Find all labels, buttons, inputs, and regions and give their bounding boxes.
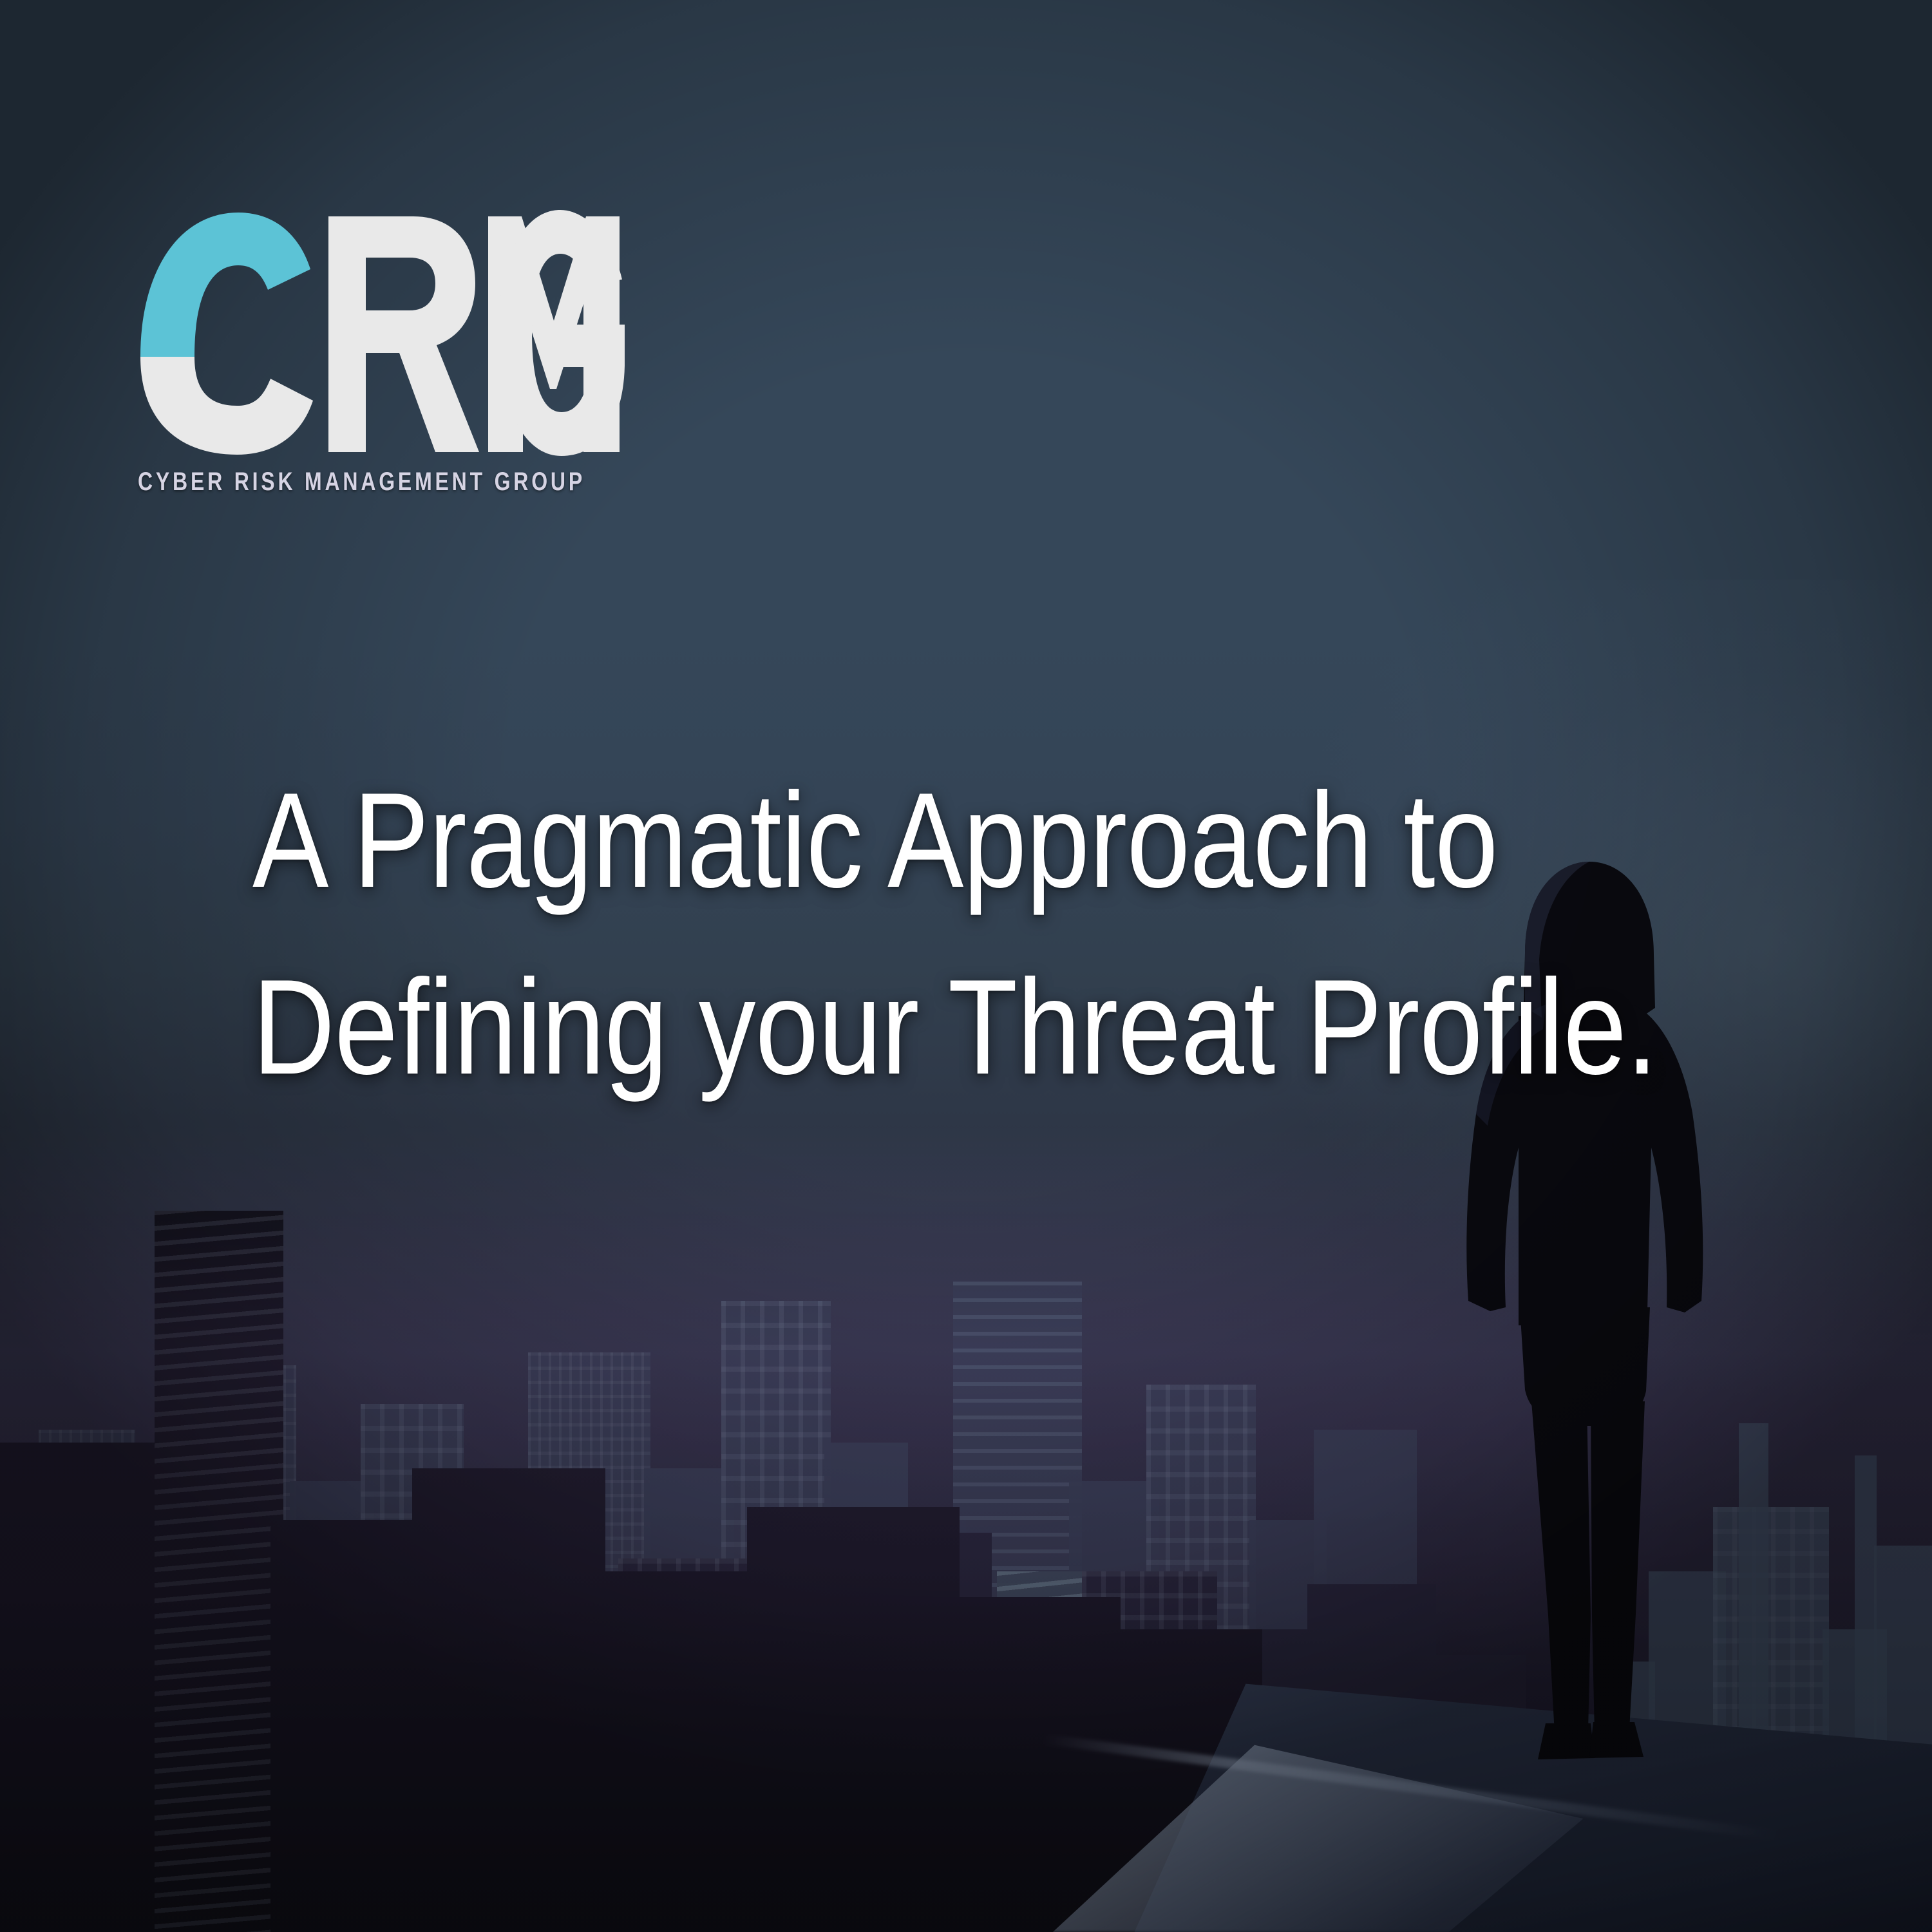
logo-letter-r	[328, 216, 479, 452]
headline: A Pragmatic Approach to Defining your Th…	[252, 747, 1605, 1121]
headline-line-2: Defining your Threat Profile.	[252, 934, 1396, 1121]
logo-letter-c	[140, 357, 313, 455]
logo-arc-teal-icon	[140, 213, 310, 357]
logo-tagline: CYBER RISK MANAGEMENT GROUP	[138, 468, 540, 497]
logo-letter-g-icon	[496, 207, 631, 459]
title-slide: CYBER RISK MANAGEMENT GROUP A Pragmatic …	[0, 0, 1932, 1932]
crmg-logo: CYBER RISK MANAGEMENT GROUP	[135, 207, 644, 504]
headline-line-1: A Pragmatic Approach to	[252, 747, 1396, 934]
